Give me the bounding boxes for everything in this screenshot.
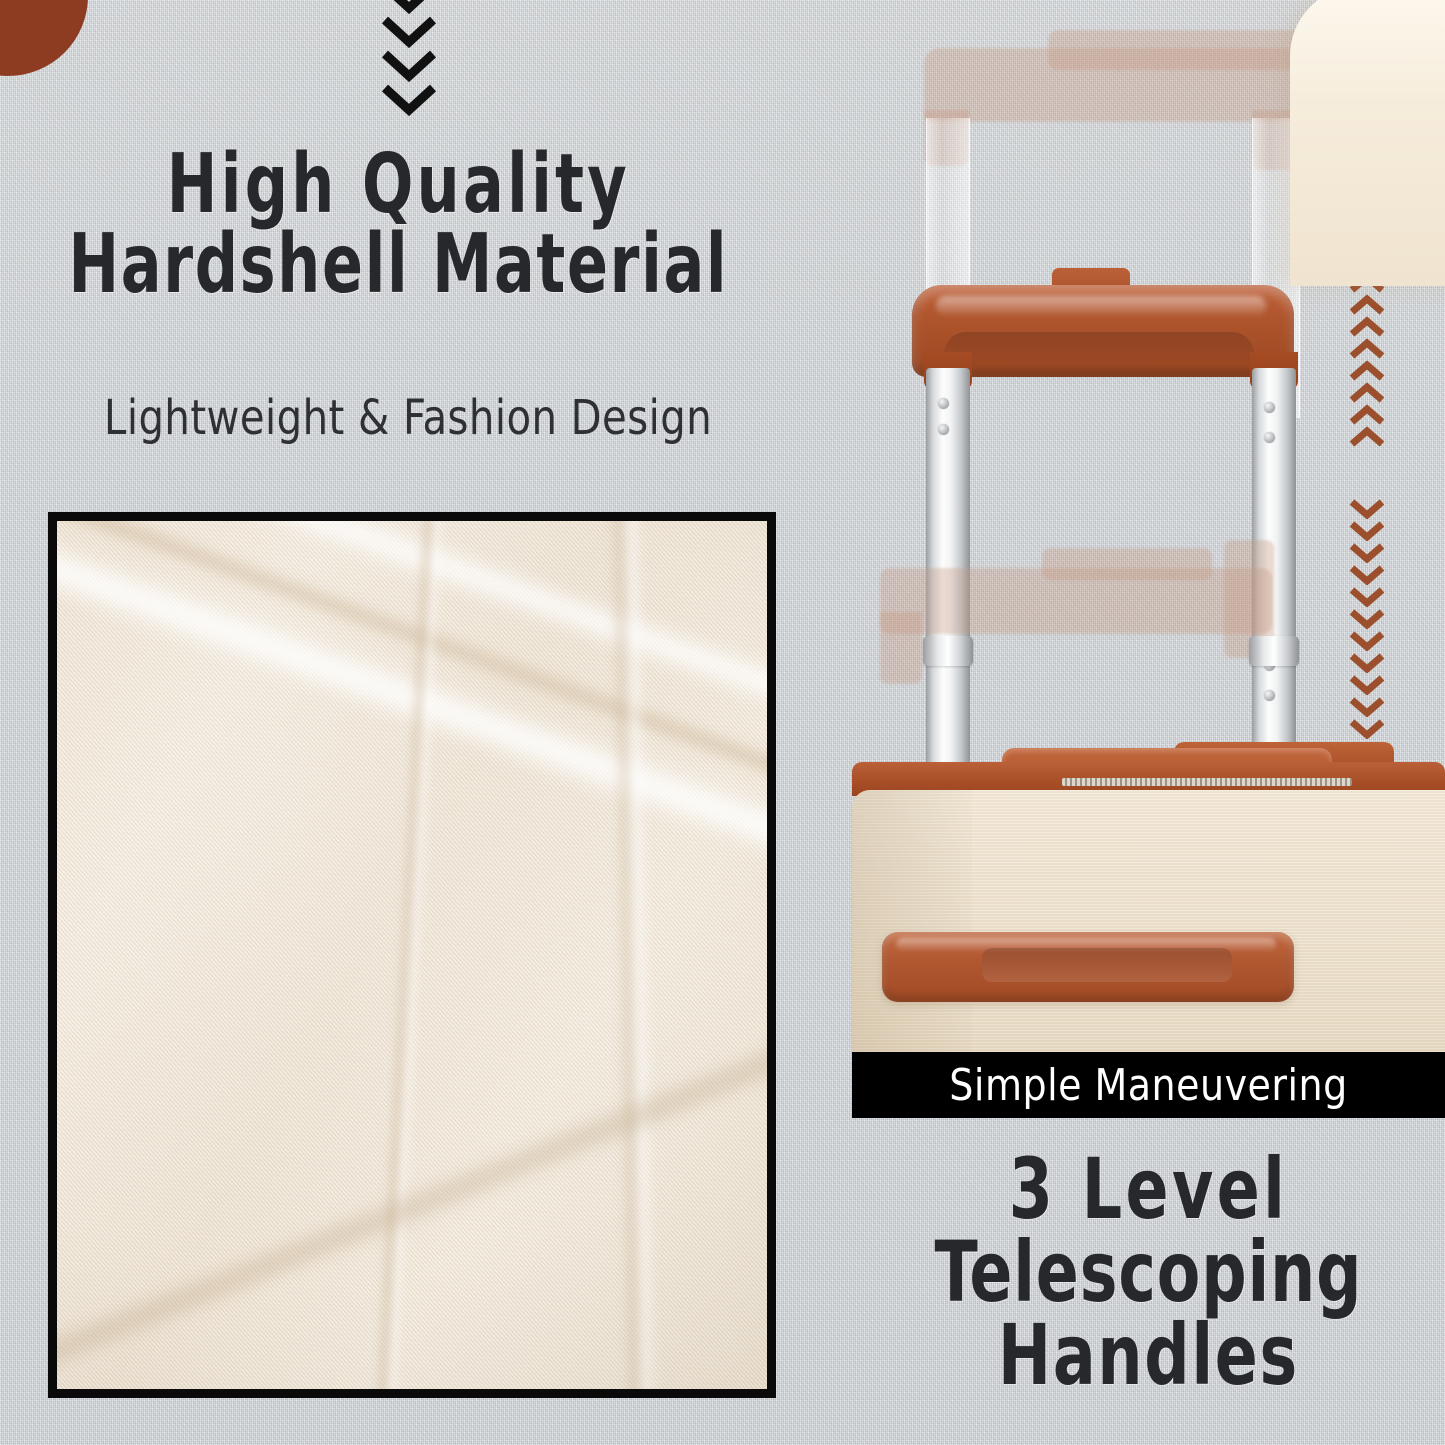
page-title: High Quality Hardshell Material xyxy=(54,145,743,304)
chevron-down-icon xyxy=(381,0,437,16)
chevron-down-icon xyxy=(381,84,437,118)
side-handle-groove xyxy=(982,948,1232,982)
case-zipper xyxy=(1062,778,1352,786)
pole-screw xyxy=(1264,690,1275,701)
suitcase-shell xyxy=(852,790,1445,1052)
bottom-title-line-1: 3 Level xyxy=(899,1148,1397,1231)
pole-screw xyxy=(938,424,949,435)
bottom-title-line-3: Handles xyxy=(899,1314,1397,1397)
subheadline: Lightweight & Fashion Design xyxy=(104,390,712,446)
feature-banner: Simple Maneuvering xyxy=(852,1052,1445,1118)
handle-inner-cutout xyxy=(944,332,1254,386)
headline-line-2: Hardshell Material xyxy=(54,225,743,305)
bottom-title: 3 Level Telescoping Handles xyxy=(852,1148,1445,1397)
ghost-handle-level-2-top xyxy=(1042,548,1212,580)
corner-circle-decor xyxy=(0,0,88,76)
pole-screw xyxy=(1264,432,1275,443)
ghost-handle-level-3-top xyxy=(1048,30,1308,70)
vignette xyxy=(57,521,767,1389)
handle-gloss xyxy=(936,296,1266,316)
ghost-handle-leg-left-mid xyxy=(880,612,922,684)
suitcase-handle-photo xyxy=(852,0,1445,1052)
headline-line-1: High Quality xyxy=(54,145,743,225)
banner-label: Simple Maneuvering xyxy=(949,1060,1347,1111)
pole-joint-left xyxy=(923,636,973,666)
chevron-down-icon xyxy=(381,50,437,84)
shell-shading xyxy=(852,790,972,1052)
shell-corner-bulge xyxy=(1290,0,1445,286)
chevron-down-stack-top xyxy=(381,0,437,118)
product-feature-image: High Quality Hardshell Material Lightwei… xyxy=(0,0,1445,1445)
hardshell-closeup-panel xyxy=(48,512,776,1398)
bottom-title-line-2: Telescoping xyxy=(899,1231,1397,1314)
pole-screw xyxy=(938,398,949,409)
pole-joint-right xyxy=(1249,636,1299,666)
chevron-down-icon xyxy=(381,16,437,50)
pole-screw xyxy=(1264,402,1275,413)
